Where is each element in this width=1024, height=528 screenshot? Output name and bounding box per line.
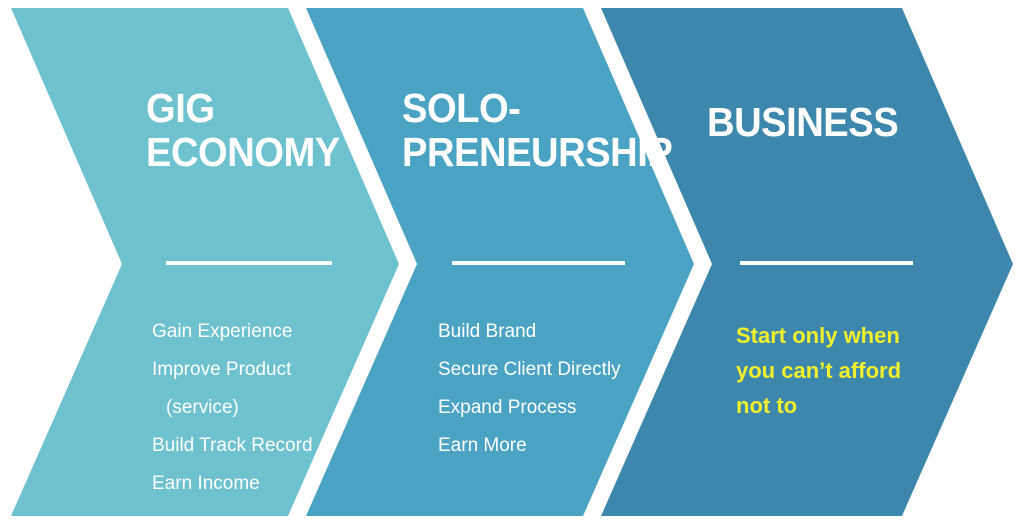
stage-title-business: BUSINESS: [707, 100, 898, 144]
list-item: Earn Income: [152, 465, 313, 503]
list-item: Build Track Record: [152, 427, 313, 465]
list-item: Expand Process: [438, 389, 621, 427]
list-item: Improve Product: [152, 351, 313, 389]
divider-rule-gig-economy: [166, 261, 332, 265]
stage-title-solopreneurship: SOLO- PRENEURSHIP: [402, 86, 672, 174]
list-item: Build Brand: [438, 313, 621, 351]
diagram-canvas: GIG ECONOMY Gain Experience Improve Prod…: [0, 0, 1024, 528]
stage-item-list-solopreneurship: Build Brand Secure Client Directly Expan…: [438, 313, 621, 465]
list-item: (service): [152, 389, 313, 427]
divider-rule-solopreneurship: [452, 261, 625, 265]
stage-note-business: Start only when you can’t afford not to: [736, 318, 926, 423]
divider-rule-business: [740, 261, 913, 265]
stage-item-list-gig-economy: Gain Experience Improve Product (service…: [152, 313, 313, 503]
list-item: Secure Client Directly: [438, 351, 621, 389]
list-item: Gain Experience: [152, 313, 313, 351]
list-item: Earn More: [438, 427, 621, 465]
stage-title-gig-economy: GIG ECONOMY: [146, 86, 340, 174]
